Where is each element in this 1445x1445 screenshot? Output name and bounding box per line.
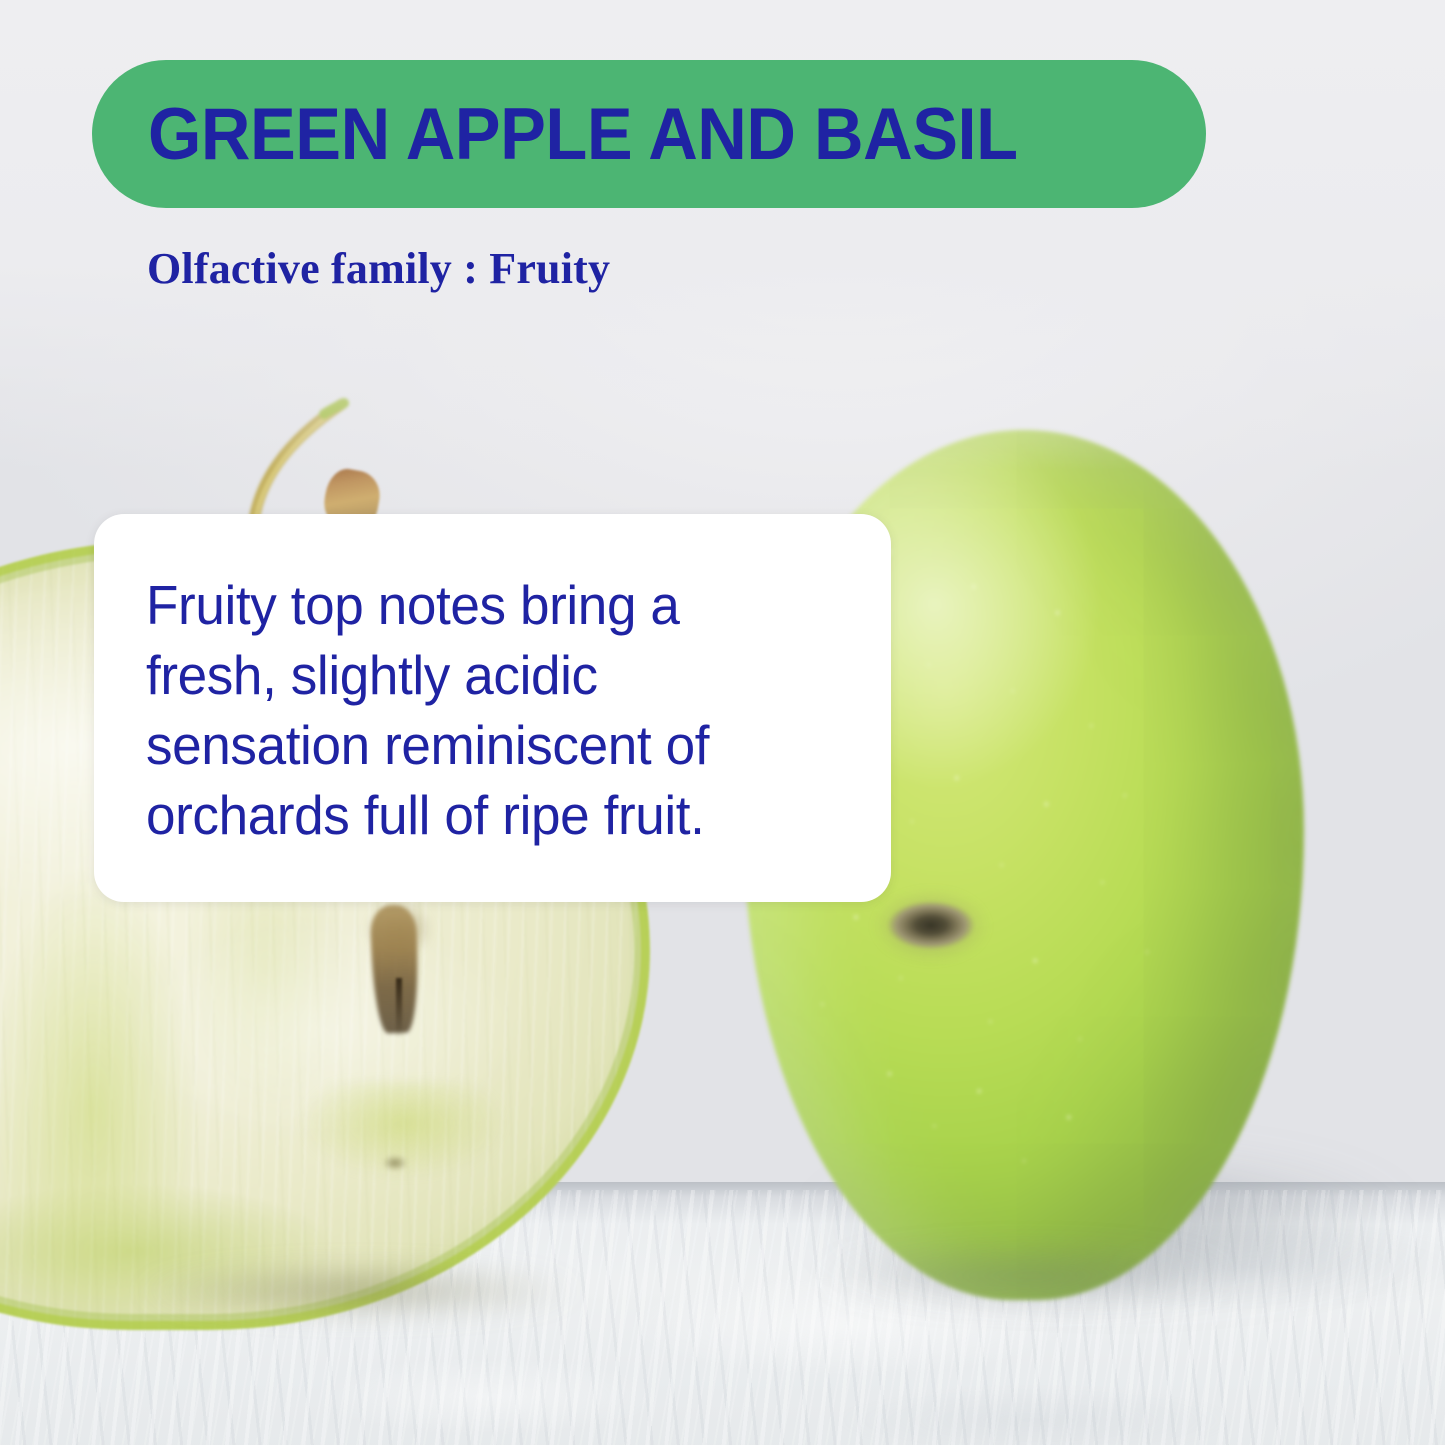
scent-description-card: Fruity top notes bring a fresh, slightly… — [94, 514, 891, 902]
product-scent-card: GREEN APPLE AND BASIL Olfactive family :… — [0, 0, 1445, 1445]
apple-core-seam — [396, 978, 402, 1038]
apple-blossom-notch — [378, 1152, 412, 1174]
halved-apple-contact-shadow — [60, 1262, 680, 1334]
apple-calyx — [876, 892, 986, 956]
whole-apple-contact-shadow — [742, 1246, 1312, 1320]
scent-description-text: Fruity top notes bring a fresh, slightly… — [146, 570, 821, 850]
olfactive-family-label: Olfactive family : Fruity — [147, 243, 610, 294]
title-pill-banner: GREEN APPLE AND BASIL — [92, 60, 1206, 208]
page-title: GREEN APPLE AND BASIL — [148, 98, 1018, 171]
